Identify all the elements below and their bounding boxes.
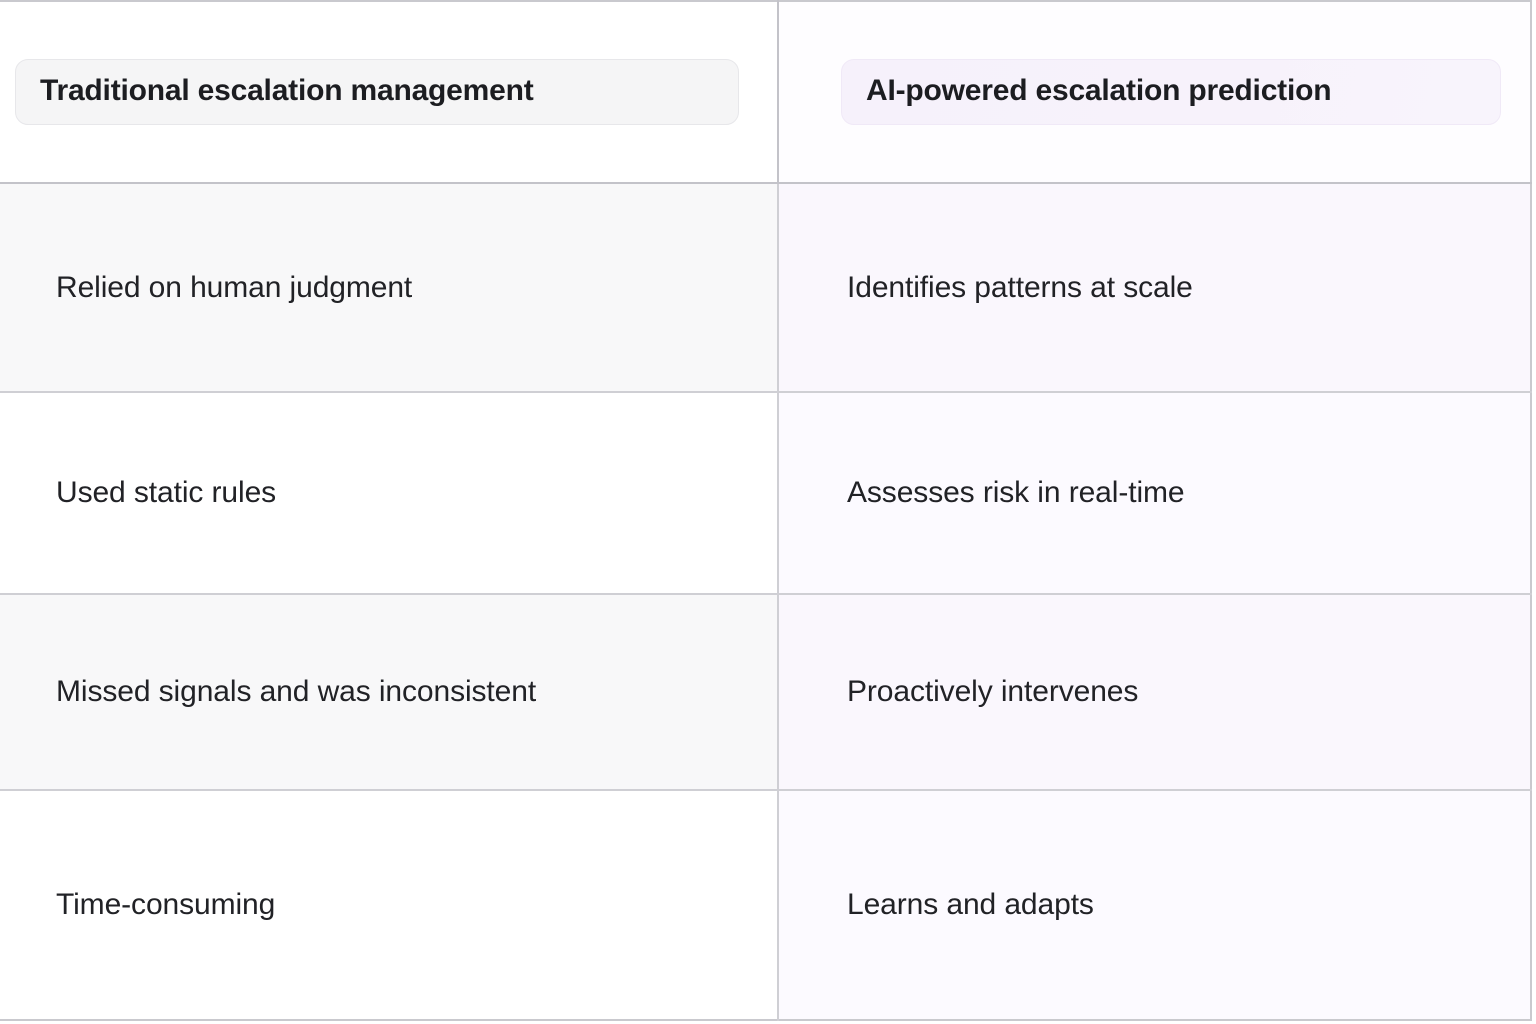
cell-text: Assesses risk in real-time [847,474,1490,512]
header-row: Traditional escalation management AI-pow… [0,1,1531,183]
table-body: Relied on human judgment Identifies patt… [0,183,1531,1020]
cell-traditional: Time-consuming [0,790,778,1020]
cell-text: Used static rules [56,474,737,512]
cell-text: Proactively intervenes [847,673,1490,711]
table-row: Time-consuming Learns and adapts [0,790,1531,1020]
column-header-traditional: Traditional escalation management [0,1,778,183]
cell-text: Relied on human judgment [56,269,737,307]
table-header: Traditional escalation management AI-pow… [0,1,1531,183]
cell-text: Identifies patterns at scale [847,269,1490,307]
comparison-table: Traditional escalation management AI-pow… [0,0,1532,1021]
comparison-table-container: Traditional escalation management AI-pow… [0,0,1530,1013]
cell-text: Missed signals and was inconsistent [56,673,616,711]
cell-traditional: Used static rules [0,392,778,594]
cell-ai-powered: Proactively intervenes [778,594,1531,790]
cell-ai-powered: Learns and adapts [778,790,1531,1020]
cell-ai-powered: Assesses risk in real-time [778,392,1531,594]
column-header-traditional-pill: Traditional escalation management [15,59,739,125]
column-header-ai-powered: AI-powered escalation prediction [778,1,1531,183]
cell-traditional: Missed signals and was inconsistent [0,594,778,790]
table-row: Relied on human judgment Identifies patt… [0,183,1531,392]
cell-traditional: Relied on human judgment [0,183,778,392]
table-row: Used static rules Assesses risk in real-… [0,392,1531,594]
cell-ai-powered: Identifies patterns at scale [778,183,1531,392]
cell-text: Time-consuming [56,886,737,924]
column-header-ai-powered-pill: AI-powered escalation prediction [841,59,1501,125]
cell-text: Learns and adapts [847,886,1490,924]
table-row: Missed signals and was inconsistent Proa… [0,594,1531,790]
